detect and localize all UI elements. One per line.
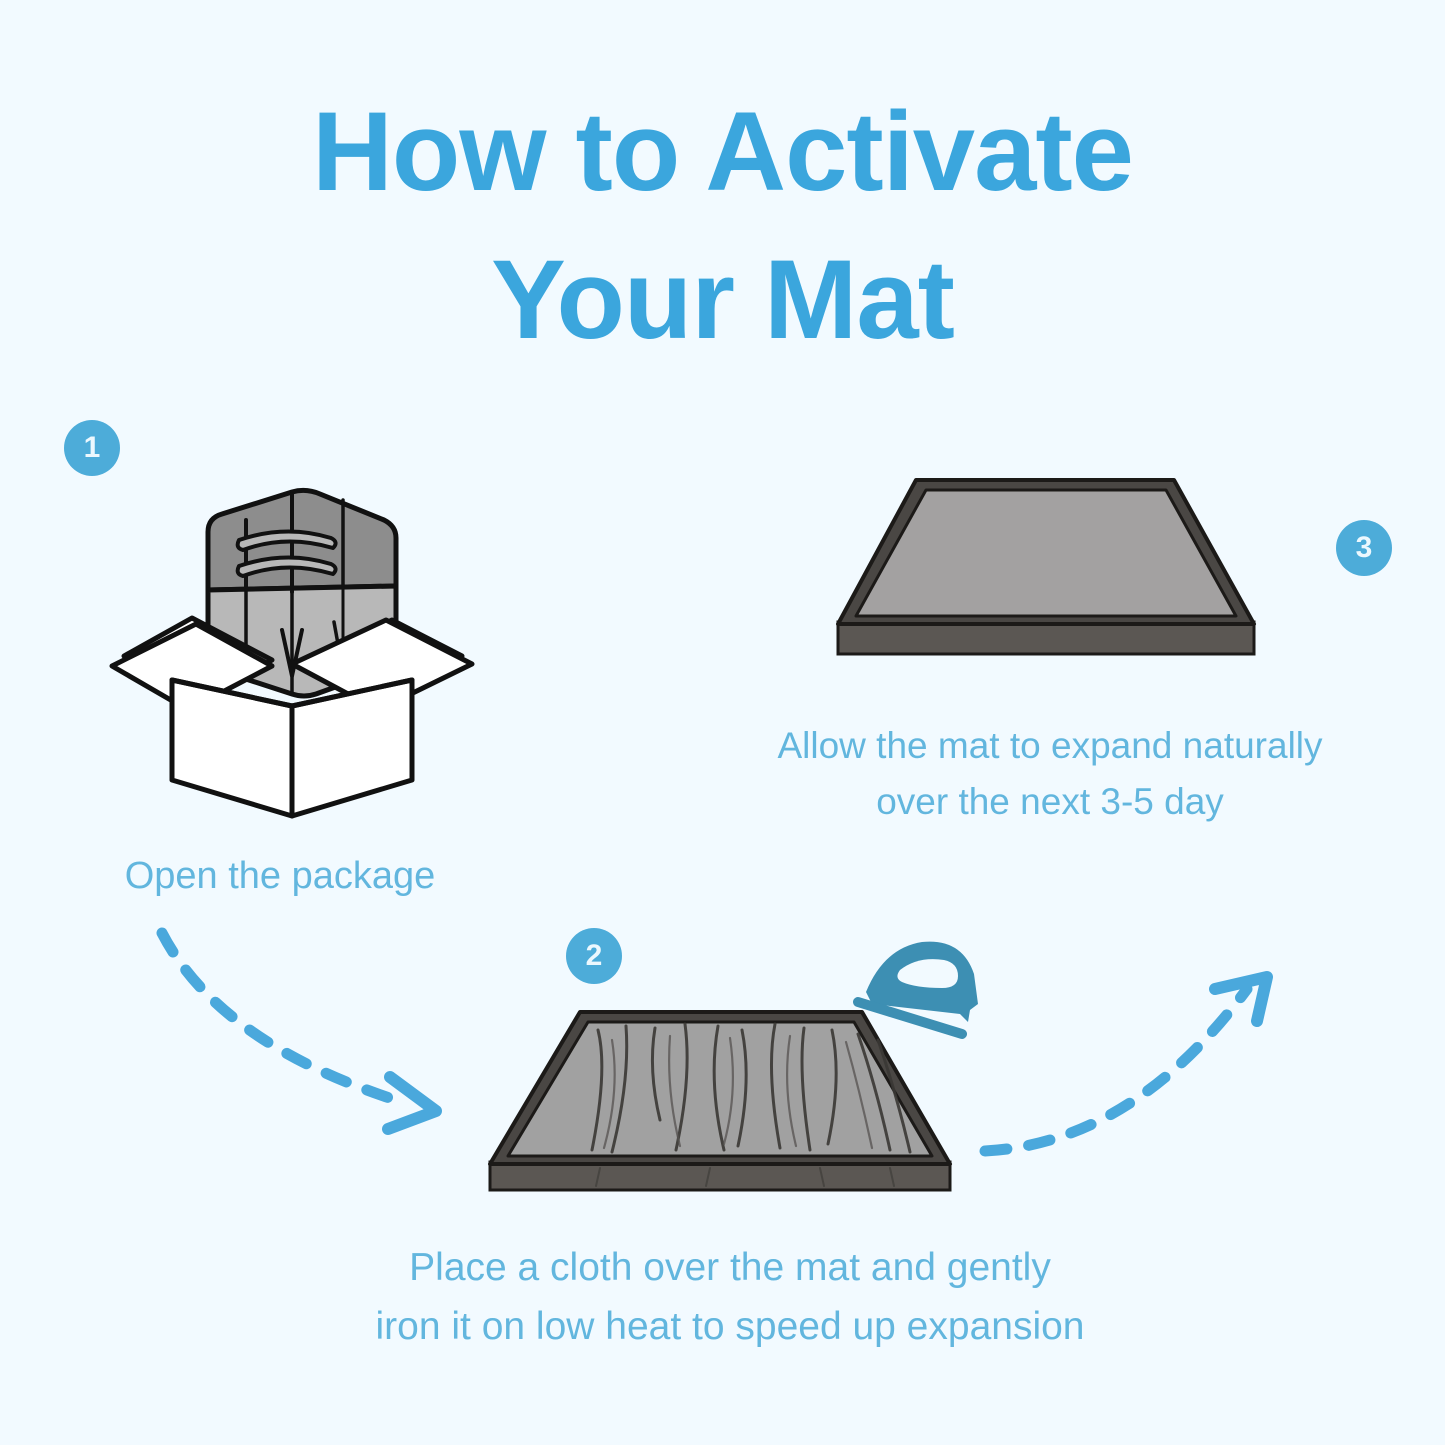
dashed-curved-arrow-up-right: [975, 955, 1295, 1170]
dashed-curved-arrow-down-right: [150, 915, 500, 1155]
infographic-canvas: How to Activate Your Mat 1: [0, 0, 1445, 1445]
step-3-badge: 3: [1336, 520, 1392, 576]
step-2-badge: 2: [566, 928, 622, 984]
flat-mat-icon: [830, 470, 1300, 670]
page-title: How to Activate Your Mat: [0, 78, 1445, 374]
step-1-number: 1: [84, 431, 101, 465]
step-2-caption: Place a cloth over the mat and gently ir…: [240, 1238, 1220, 1357]
cardboard-box-icon: [96, 480, 486, 820]
wrinkled-mat-icon: [480, 1000, 960, 1210]
title-line-2: Your Mat: [0, 226, 1445, 374]
step-2-number: 2: [586, 939, 603, 973]
step-1-badge: 1: [64, 420, 120, 476]
step-3-caption: Allow the mat to expand naturally over t…: [660, 718, 1440, 830]
step-3-number: 3: [1356, 531, 1373, 565]
step-1-caption: Open the package: [40, 848, 520, 906]
title-line-1: How to Activate: [0, 78, 1445, 226]
